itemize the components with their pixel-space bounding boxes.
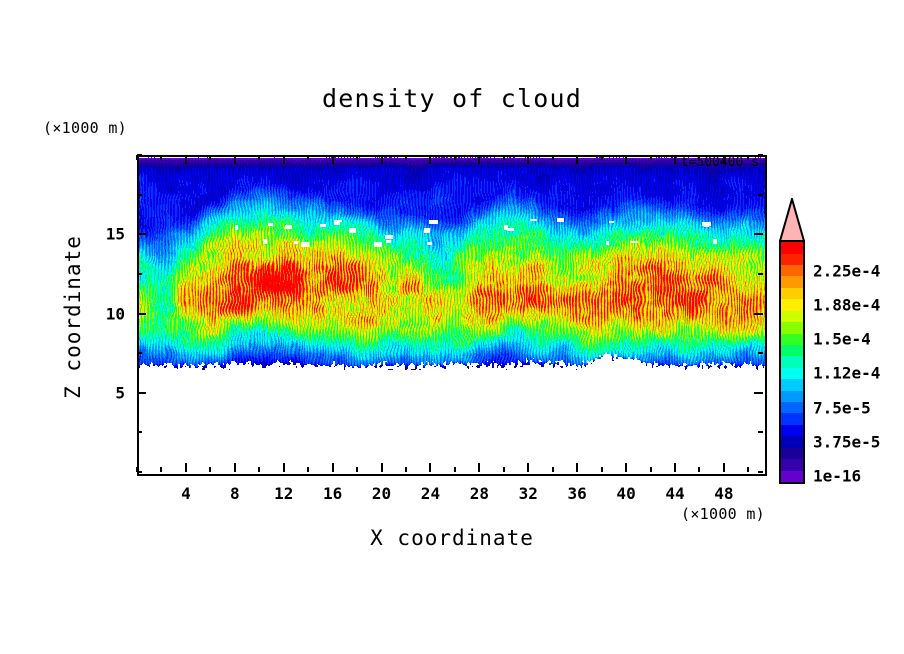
z-tick — [137, 313, 146, 315]
x-tick-top — [356, 155, 358, 160]
x-tick — [283, 463, 285, 472]
x-tick-top — [258, 155, 260, 160]
x-tick-label: 4 — [181, 484, 191, 503]
x-tick — [381, 463, 383, 472]
colorbar-band — [781, 299, 803, 310]
colorbar-band — [781, 436, 803, 447]
x-tick-label: 44 — [665, 484, 684, 503]
x-tick-top — [674, 155, 676, 164]
x-tick — [185, 463, 187, 472]
z-tick-label: 10 — [75, 304, 125, 323]
x-axis-title: X coordinate — [0, 526, 904, 550]
x-tick — [160, 467, 162, 472]
x-tick-top — [234, 155, 236, 164]
colorbar-band — [781, 379, 803, 390]
colorbar-band — [781, 322, 803, 333]
colorbar-tick-label: 3.75e-5 — [813, 433, 880, 452]
z-tick-right — [754, 392, 763, 394]
x-tick — [234, 463, 236, 472]
colorbar-tick-label: 1.12e-4 — [813, 364, 880, 383]
x-tick-top — [160, 155, 162, 160]
z-tick — [137, 471, 142, 473]
x-tick — [674, 463, 676, 472]
x-tick — [698, 467, 700, 472]
x-tick-top — [576, 155, 578, 164]
x-tick-label: 20 — [372, 484, 391, 503]
colorbar-bands — [779, 240, 805, 484]
colorbar-tick-label: 2.25e-4 — [813, 261, 880, 280]
x-tick — [503, 467, 505, 472]
z-tick — [137, 194, 142, 196]
x-tick — [650, 467, 652, 472]
colorbar-tick-label: 1e-16 — [813, 467, 861, 486]
x-tick-top — [209, 155, 211, 160]
colorbar-band — [781, 311, 803, 322]
x-tick-top — [478, 155, 480, 164]
x-tick-top — [454, 155, 456, 160]
time-stamp-annotation: t=500400 s — [681, 155, 759, 170]
x-tick-label: 32 — [519, 484, 538, 503]
x-tick — [258, 467, 260, 472]
colorbar-overflow-arrow-icon — [779, 198, 805, 242]
x-tick-label: 24 — [421, 484, 440, 503]
colorbar-tick-label: 1.5e-4 — [813, 330, 871, 349]
colorbar — [779, 198, 805, 484]
x-tick — [478, 463, 480, 472]
x-tick-top — [332, 155, 334, 164]
x-tick-top — [405, 155, 407, 160]
colorbar-band — [781, 459, 803, 470]
z-tick — [137, 233, 146, 235]
x-tick-label: 40 — [616, 484, 635, 503]
z-tick — [137, 392, 146, 394]
z-tick-right — [754, 313, 763, 315]
x-tick-top — [625, 155, 627, 164]
z-tick — [137, 431, 142, 433]
x-tick-top — [283, 155, 285, 164]
z-tick-right — [758, 431, 763, 433]
x-tick — [307, 467, 309, 472]
colorbar-band — [781, 265, 803, 276]
z-axis-unit-label: (×1000 m) — [43, 119, 127, 137]
x-tick — [527, 463, 529, 472]
x-tick-label: 28 — [470, 484, 489, 503]
colorbar-band — [781, 242, 803, 253]
colorbar-band — [781, 413, 803, 424]
x-tick — [552, 467, 554, 472]
colorbar-band — [781, 356, 803, 367]
x-tick-label: 36 — [568, 484, 587, 503]
x-tick — [747, 467, 749, 472]
z-tick-right — [758, 352, 763, 354]
z-tick — [137, 352, 142, 354]
z-tick-right — [758, 194, 763, 196]
x-tick-top — [552, 155, 554, 160]
x-tick-label: 12 — [274, 484, 293, 503]
colorbar-band — [781, 425, 803, 436]
plot-area: t=500400 s — [137, 155, 767, 476]
x-tick-top — [650, 155, 652, 160]
colorbar-band — [781, 368, 803, 379]
x-tick-top — [503, 155, 505, 160]
x-tick — [625, 463, 627, 472]
x-tick-label: 16 — [323, 484, 342, 503]
colorbar-band — [781, 448, 803, 459]
x-tick-top — [527, 155, 529, 164]
x-tick-top — [429, 155, 431, 164]
z-tick-label: 5 — [75, 383, 125, 402]
colorbar-band — [781, 471, 803, 482]
x-tick — [723, 463, 725, 472]
colorbar-band — [781, 402, 803, 413]
x-tick — [601, 467, 603, 472]
x-tick — [405, 467, 407, 472]
colorbar-tick-label: 7.5e-5 — [813, 398, 871, 417]
z-tick-right — [758, 471, 763, 473]
z-tick-right — [754, 233, 763, 235]
colorbar-tick-label: 1.88e-4 — [813, 295, 880, 314]
x-tick-top — [185, 155, 187, 164]
cloud-density-heatmap — [139, 157, 765, 474]
colorbar-band — [781, 276, 803, 287]
colorbar-band — [781, 334, 803, 345]
z-tick — [137, 154, 142, 156]
figure-canvas: density of cloud (×1000 m) (×1000 m) X c… — [0, 0, 904, 654]
x-tick-label: 48 — [714, 484, 733, 503]
x-axis-unit-label: (×1000 m) — [681, 505, 765, 523]
x-tick — [209, 467, 211, 472]
x-tick — [332, 463, 334, 472]
x-tick-top — [307, 155, 309, 160]
colorbar-band — [781, 345, 803, 356]
x-tick-top — [381, 155, 383, 164]
z-tick-right — [758, 273, 763, 275]
x-tick — [356, 467, 358, 472]
colorbar-band — [781, 254, 803, 265]
x-tick — [576, 463, 578, 472]
z-tick — [137, 273, 142, 275]
page-title: density of cloud — [0, 84, 904, 113]
x-tick-top — [601, 155, 603, 160]
x-tick — [454, 467, 456, 472]
x-tick — [429, 463, 431, 472]
z-tick-label: 15 — [75, 225, 125, 244]
colorbar-band — [781, 288, 803, 299]
colorbar-band — [781, 391, 803, 402]
x-tick-label: 8 — [230, 484, 240, 503]
